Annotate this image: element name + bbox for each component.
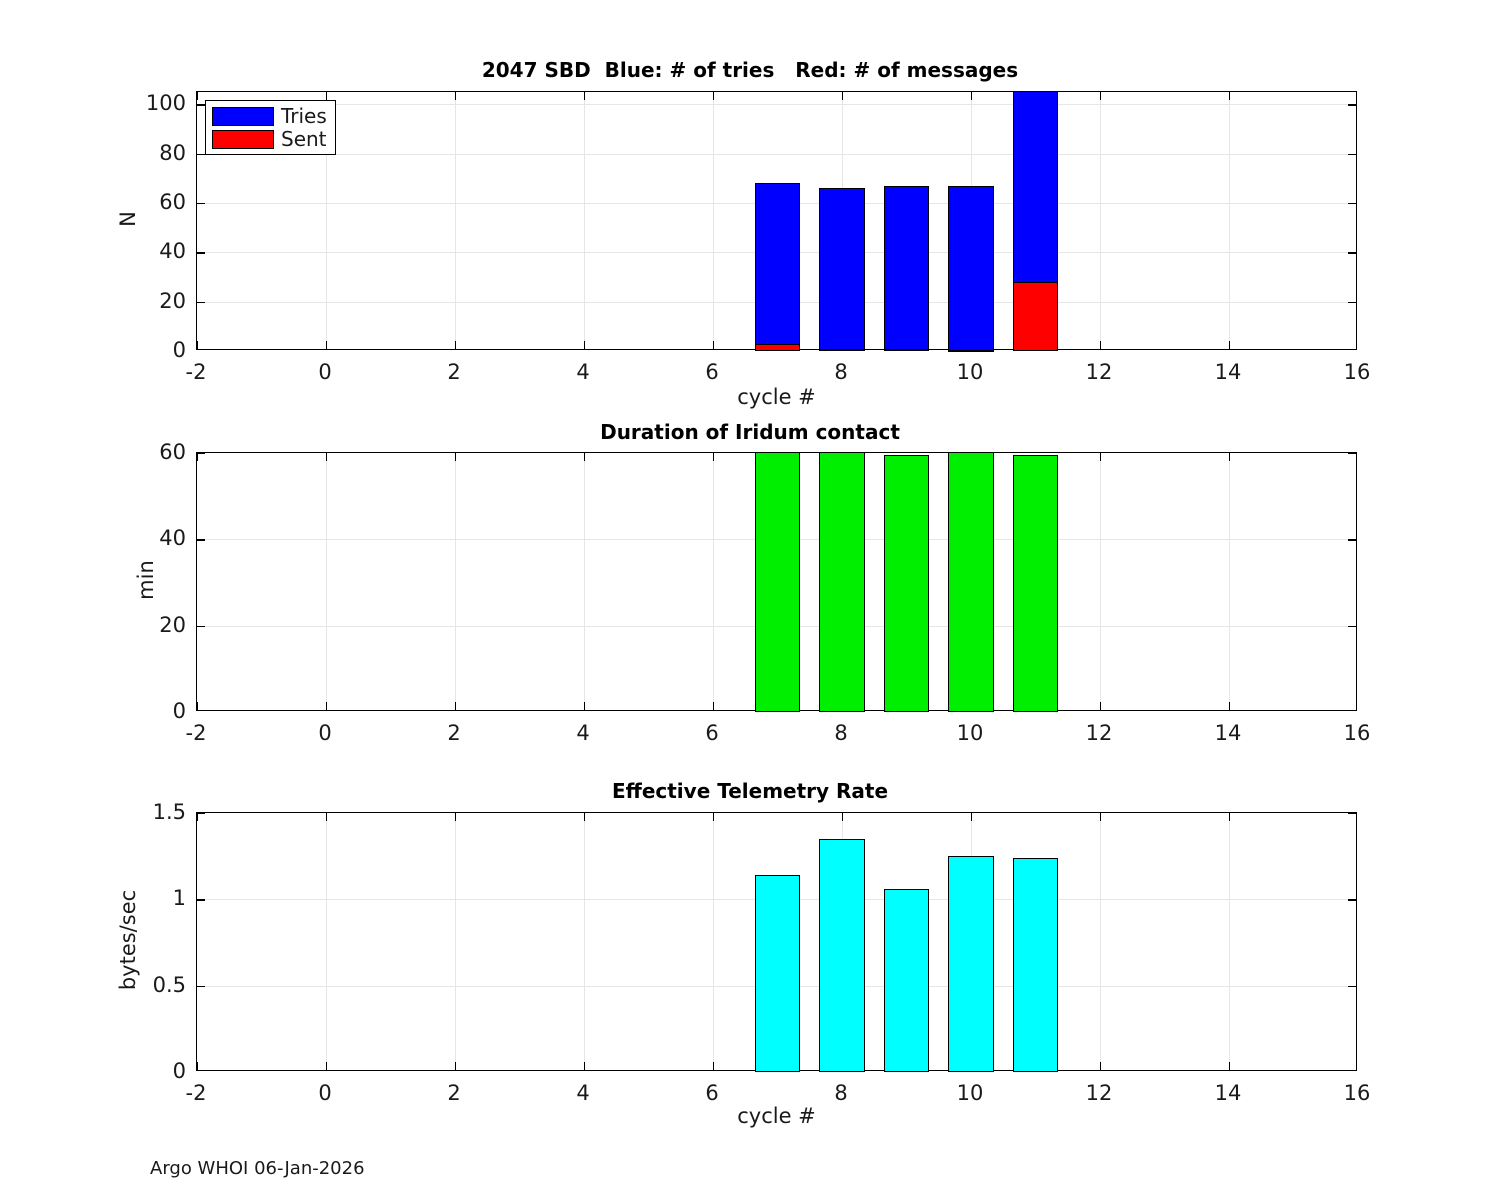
grid-line-vertical: [1229, 813, 1230, 1070]
y-axis-tick: [197, 899, 205, 900]
bar: [819, 453, 864, 712]
legend-label-tries: Tries: [281, 106, 327, 126]
bar: [1013, 282, 1058, 351]
bar: [948, 453, 993, 712]
bar: [884, 186, 929, 351]
x-axis-tick-top: [455, 813, 456, 821]
bar: [884, 349, 929, 351]
x-axis-tick-label: 10: [957, 1081, 984, 1105]
legend-swatch-sent: [212, 130, 274, 149]
y-axis-tick-label: 0: [86, 1059, 186, 1083]
grid-line-vertical: [584, 813, 585, 1070]
y-axis-tick-right: [1348, 986, 1356, 987]
x-axis-tick-label: 0: [318, 1081, 331, 1105]
x-axis-tick-label: 6: [705, 1081, 718, 1105]
x-axis-tick: [326, 1062, 327, 1070]
grid-line-vertical: [713, 813, 714, 1070]
bar: [884, 455, 929, 712]
bar: [884, 889, 929, 1072]
x-axis-tick-label: 2: [447, 1081, 460, 1105]
y-axis-tick: [197, 986, 205, 987]
x-axis-tick-top: [1356, 813, 1357, 821]
bar: [755, 875, 800, 1072]
x-axis-tick: [197, 1062, 198, 1070]
x-axis-tick-label: 14: [1215, 1081, 1242, 1105]
y-axis-tick: [197, 1070, 205, 1071]
y-axis-tick-label: 0.5: [86, 973, 186, 997]
bar: [755, 344, 800, 351]
plot-area: [196, 812, 1357, 1071]
x-axis-tick-label: 12: [1086, 1081, 1113, 1105]
x-axis-tick: [584, 1062, 585, 1070]
x-axis-tick: [455, 1062, 456, 1070]
bar: [1013, 858, 1058, 1072]
y-axis-tick-right: [1348, 1070, 1356, 1071]
x-axis-label: cycle #: [196, 1104, 1357, 1128]
chart-title: Effective Telemetry Rate: [0, 779, 1500, 803]
y-axis-tick-label: 1: [86, 886, 186, 910]
bar: [755, 183, 800, 351]
x-axis-tick-label: 8: [834, 1081, 847, 1105]
x-axis-tick: [1100, 1062, 1101, 1070]
y-axis-tick-label: 1.5: [86, 800, 186, 824]
x-axis-tick: [1356, 1062, 1357, 1070]
x-axis-tick-top: [584, 813, 585, 821]
y-axis-tick-right: [1348, 899, 1356, 900]
bar: [1013, 455, 1058, 712]
legend-item-tries: Tries: [212, 106, 327, 126]
x-axis-tick-top: [1100, 813, 1101, 821]
bar: [819, 349, 864, 351]
x-axis-tick: [713, 1062, 714, 1070]
legend-label-sent: Sent: [281, 129, 327, 149]
grid-line-vertical: [326, 813, 327, 1070]
legend-swatch-tries: [212, 107, 274, 126]
bar: [755, 453, 800, 712]
x-axis-tick-top: [842, 813, 843, 821]
chart-legend: Tries Sent: [205, 100, 336, 155]
x-axis-tick-label: -2: [186, 1081, 207, 1105]
bar: [819, 839, 864, 1072]
bar: [948, 856, 993, 1072]
grid-line-vertical: [455, 813, 456, 1070]
footer-credit: Argo WHOI 06-Jan-2026: [150, 1158, 365, 1179]
x-axis-tick-top: [713, 813, 714, 821]
bar: [819, 188, 864, 351]
x-axis-tick-top: [1229, 813, 1230, 821]
legend-item-sent: Sent: [212, 129, 327, 149]
bar: [948, 186, 993, 351]
grid-line-vertical: [1100, 813, 1101, 1070]
bar: [948, 350, 993, 352]
y-axis-tick-right: [1348, 813, 1356, 814]
x-axis-tick-label: 4: [576, 1081, 589, 1105]
x-axis-tick-label: 16: [1344, 1081, 1371, 1105]
y-axis-tick: [197, 813, 205, 814]
x-axis-tick-top: [326, 813, 327, 821]
x-axis-tick-top: [971, 813, 972, 821]
x-axis-tick: [1229, 1062, 1230, 1070]
chart-panel-effective-telemetry-rate: Effective Telemetry Rate bytes/sec cycle…: [0, 0, 1500, 1200]
